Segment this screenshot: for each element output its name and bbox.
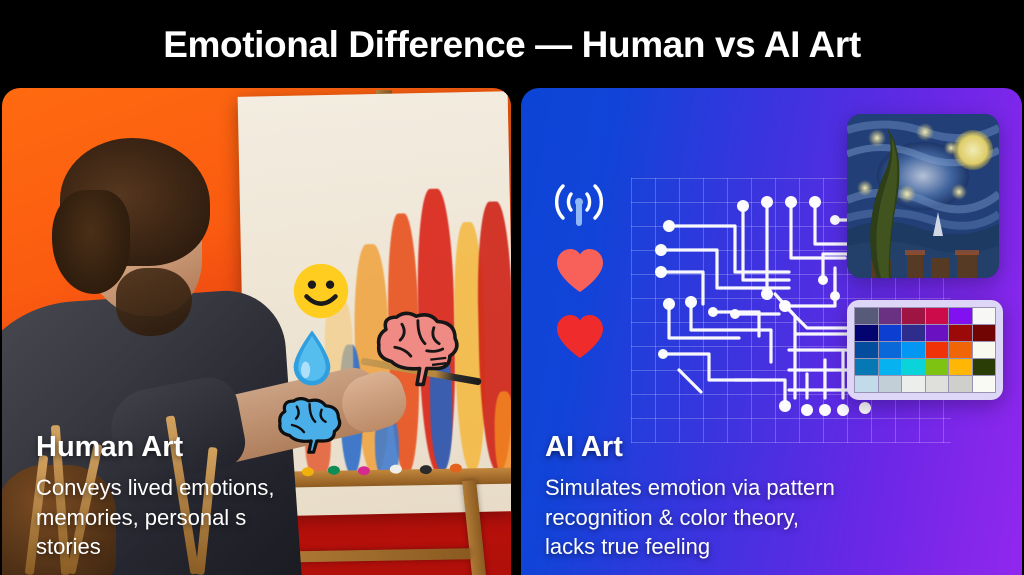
palette-swatch [855, 376, 878, 392]
brain-pink-icon [368, 310, 466, 388]
human-body-line: memories, personal s [36, 503, 487, 532]
palette-swatch [879, 359, 902, 375]
palette-swatch [926, 359, 949, 375]
palette-swatch [949, 359, 972, 375]
palette-swatch [949, 325, 972, 341]
palette-swatch [973, 325, 996, 341]
slide-root: Emotional Difference — Human vs AI Art [0, 0, 1024, 575]
human-body-line: stories [36, 532, 487, 561]
starry-night-painting-thumbnail [847, 114, 999, 278]
palette-swatch [926, 376, 949, 392]
ai-art-heading: AI Art [545, 432, 998, 462]
title-bar: Emotional Difference — Human vs AI Art [0, 0, 1024, 88]
panel-human-art: Human Art Conveys lived emotions, memori… [2, 88, 511, 575]
palette-swatch [879, 342, 902, 358]
palette-swatch [902, 308, 925, 324]
caption-human: Human Art Conveys lived emotions, memori… [36, 432, 487, 561]
palette-swatch [879, 308, 902, 324]
human-art-body: Conveys lived emotions, memories, person… [36, 473, 487, 561]
palette-swatch [855, 325, 878, 341]
palette-swatch [973, 308, 996, 324]
palette-swatch [949, 308, 972, 324]
signal-broadcast-icon [549, 176, 609, 232]
water-droplet-icon [290, 328, 334, 388]
artist-hair-side [52, 190, 130, 294]
palette-swatch [973, 359, 996, 375]
smiley-face-icon [292, 262, 350, 320]
palette-swatch [879, 376, 902, 392]
page-title: Emotional Difference — Human vs AI Art [163, 26, 861, 63]
ai-body-line: recognition & color theory, [545, 503, 998, 532]
ai-body-line: Simulates emotion via pattern [545, 473, 998, 502]
palette-swatch [973, 376, 996, 392]
ai-art-body: Simulates emotion via pattern recognitio… [545, 473, 998, 561]
palette-swatch [949, 376, 972, 392]
palette-swatch [902, 325, 925, 341]
heart-icon [555, 248, 605, 294]
panel-ai-art: AI Art Simulates emotion via pattern rec… [521, 88, 1022, 575]
artist-head [42, 128, 202, 318]
palette-swatch [902, 376, 925, 392]
palette-swatch [902, 342, 925, 358]
heart-icon [555, 314, 605, 360]
palette-swatch [926, 342, 949, 358]
human-art-heading: Human Art [36, 432, 487, 462]
palette-swatch [855, 342, 878, 358]
palette-swatch [855, 308, 878, 324]
palette-grid [854, 307, 996, 393]
palette-swatch [926, 308, 949, 324]
palette-swatch [973, 342, 996, 358]
palette-swatch [926, 325, 949, 341]
palette-swatch [879, 325, 902, 341]
human-body-line: Conveys lived emotions, [36, 473, 487, 502]
color-palette-swatches [847, 300, 1003, 400]
palette-swatch [949, 342, 972, 358]
palette-swatch [855, 359, 878, 375]
caption-ai: AI Art Simulates emotion via pattern rec… [545, 432, 998, 561]
palette-swatch [902, 359, 925, 375]
ai-body-line: lacks true feeling [545, 532, 998, 561]
